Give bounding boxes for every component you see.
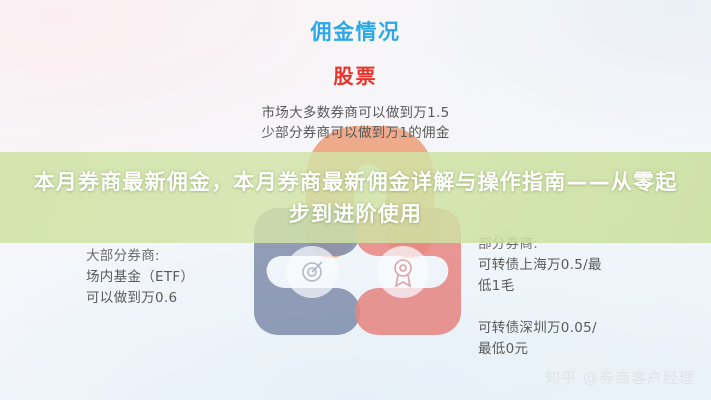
- right-column-group-one-line-2: 低1毛: [478, 276, 602, 297]
- right-column-group-one-line-1: 可转债上海万0.5/最: [478, 255, 602, 276]
- right-column-group-two-line-2: 最低0元: [478, 339, 602, 360]
- left-column-heading: 大部分券商:: [86, 246, 194, 267]
- page-title: 佣金情况: [0, 16, 711, 46]
- left-column-line-2: 可以做到万0.6: [86, 288, 194, 309]
- page-subtitle: 股票: [0, 60, 711, 89]
- left-info-column: 大部分券商: 场内基金（ETF） 可以做到万0.6: [86, 246, 194, 309]
- left-column-line-1: 场内基金（ETF）: [86, 267, 194, 288]
- column-spacer: [478, 297, 602, 318]
- description-line-1: 市场大多数券商可以做到万1.5: [0, 103, 711, 123]
- overlay-title-text: 本月券商最新佣金，本月券商最新佣金详解与操作指南——从零起步到进阶使用: [0, 166, 711, 230]
- description-text: 市场大多数券商可以做到万1.5 少部分券商可以做到万1的佣金: [0, 103, 711, 143]
- description-line-2: 少部分券商可以做到万1的佣金: [0, 123, 711, 143]
- right-column-group-two-line-1: 可转债深圳万0.05/: [478, 318, 602, 339]
- watermark: 知乎 @券商客户经理: [545, 367, 695, 388]
- title-overlay-banner: 本月券商最新佣金，本月券商最新佣金详解与操作指南——从零起步到进阶使用: [0, 152, 711, 243]
- right-info-column: 部分券商: 可转债上海万0.5/最 低1毛 可转债深圳万0.05/ 最低0元: [478, 234, 602, 360]
- cover-image-canvas: 佣金情况 股票 市场大多数券商可以做到万1.5 少部分券商可以做到万1的佣金 本…: [0, 0, 711, 400]
- heading-block: 佣金情况 股票 市场大多数券商可以做到万1.5 少部分券商可以做到万1的佣金: [0, 0, 711, 143]
